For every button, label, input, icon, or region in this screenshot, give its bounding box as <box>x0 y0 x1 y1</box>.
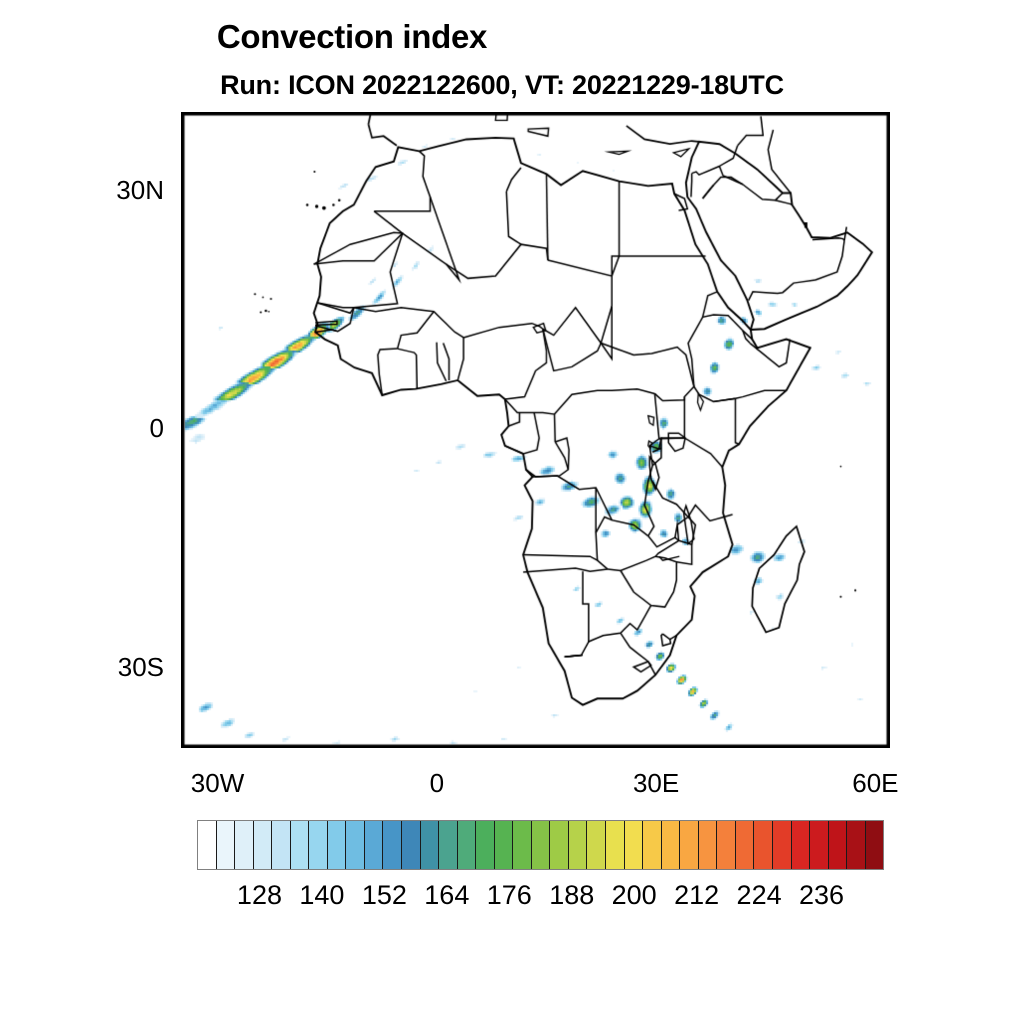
x-tick-40 <box>730 746 732 748</box>
x-tick-30E <box>657 746 659 748</box>
y-tick-0 <box>888 431 890 433</box>
x-tick-40 <box>730 112 732 114</box>
page-title: Convection index <box>0 18 1024 56</box>
colorbar-cell <box>328 821 347 869</box>
colorbar-cell <box>569 821 588 869</box>
map-plot-frame[interactable] <box>181 112 890 748</box>
x-tick-10 <box>511 746 513 748</box>
colorbar-cell <box>198 821 217 869</box>
x-tick-30E <box>657 112 659 114</box>
colorbar-cell <box>625 821 644 869</box>
y-tick-30N <box>181 193 183 195</box>
x-tick-50 <box>803 746 805 748</box>
colorbar-cell <box>272 821 291 869</box>
colorbar-cell <box>643 821 662 869</box>
colorbar-cell <box>680 821 699 869</box>
colorbar-cell <box>476 821 495 869</box>
page-title-text: Convection index <box>217 18 487 56</box>
colorbar-cell <box>587 821 606 869</box>
colorbar-cell <box>291 821 310 869</box>
colorbar-cell <box>606 821 625 869</box>
x-tick--20 <box>292 746 294 748</box>
y-tick-30N <box>888 193 890 195</box>
colorbar-cell <box>421 821 440 869</box>
y-tick--15 <box>888 550 890 552</box>
colorbar-cell <box>866 821 884 869</box>
colorbar-cell <box>792 821 811 869</box>
x-tick-10 <box>511 112 513 114</box>
convection-index-map[interactable] <box>183 114 888 746</box>
x-tick-50 <box>803 112 805 114</box>
run-validtime-text: Run: ICON 2022122600, VT: 20221229-18UTC <box>220 70 784 101</box>
x-tick--10 <box>365 746 367 748</box>
colorbar-cell <box>235 821 254 869</box>
y-tick--15 <box>181 550 183 552</box>
x-tick-0 <box>438 746 440 748</box>
colorbar-cell <box>550 821 569 869</box>
colorbar-cell <box>458 821 477 869</box>
y-axis-label-30N: 30N <box>44 175 164 206</box>
y-tick-30S <box>888 670 890 672</box>
colorbar-cell <box>736 821 755 869</box>
x-axis-label-30E: 30E <box>586 768 726 799</box>
x-tick-30W <box>219 112 221 114</box>
colorbar-tick-labels: 128140152164176188200212224236 <box>197 880 884 914</box>
x-tick-30W <box>219 746 221 748</box>
colorbar[interactable] <box>197 820 884 870</box>
colorbar-tick-236: 236 <box>782 880 862 911</box>
y-tick-30S <box>181 670 183 672</box>
y-tick-15 <box>888 312 890 314</box>
run-validtime-subtitle: Run: ICON 2022122600, VT: 20221229-18UTC <box>0 70 1024 101</box>
x-tick--20 <box>292 112 294 114</box>
colorbar-cell <box>810 821 829 869</box>
x-axis-label-60E: 60E <box>805 768 945 799</box>
colorbar-cell <box>847 821 866 869</box>
x-tick-20 <box>584 746 586 748</box>
x-tick-60E <box>876 112 878 114</box>
colorbar-cell <box>662 821 681 869</box>
colorbar-cell <box>495 821 514 869</box>
colorbar-cell <box>254 821 273 869</box>
y-axis-label-30S: 30S <box>44 652 164 683</box>
colorbar-cell <box>309 821 328 869</box>
colorbar-cell <box>513 821 532 869</box>
x-tick-20 <box>584 112 586 114</box>
colorbar-cell <box>532 821 551 869</box>
colorbar-cell <box>402 821 421 869</box>
colorbar-cell <box>365 821 384 869</box>
y-axis-label-0: 0 <box>44 413 164 444</box>
weather-map-page: Convection index Run: ICON 2022122600, V… <box>0 0 1024 1024</box>
y-tick-15 <box>181 312 183 314</box>
colorbar-cell <box>439 821 458 869</box>
colorbar-cell <box>829 821 848 869</box>
colorbar-cell <box>346 821 365 869</box>
x-axis-label-0: 0 <box>367 768 507 799</box>
colorbar-cell <box>754 821 773 869</box>
y-tick-0 <box>181 431 183 433</box>
colorbar-cell <box>773 821 792 869</box>
x-tick-0 <box>438 112 440 114</box>
colorbar-cell <box>717 821 736 869</box>
colorbar-cell <box>699 821 718 869</box>
x-axis-label-30W: 30W <box>148 768 288 799</box>
colorbar-cell <box>383 821 402 869</box>
colorbar-cell <box>217 821 236 869</box>
x-tick-60E <box>876 746 878 748</box>
x-tick--10 <box>365 112 367 114</box>
